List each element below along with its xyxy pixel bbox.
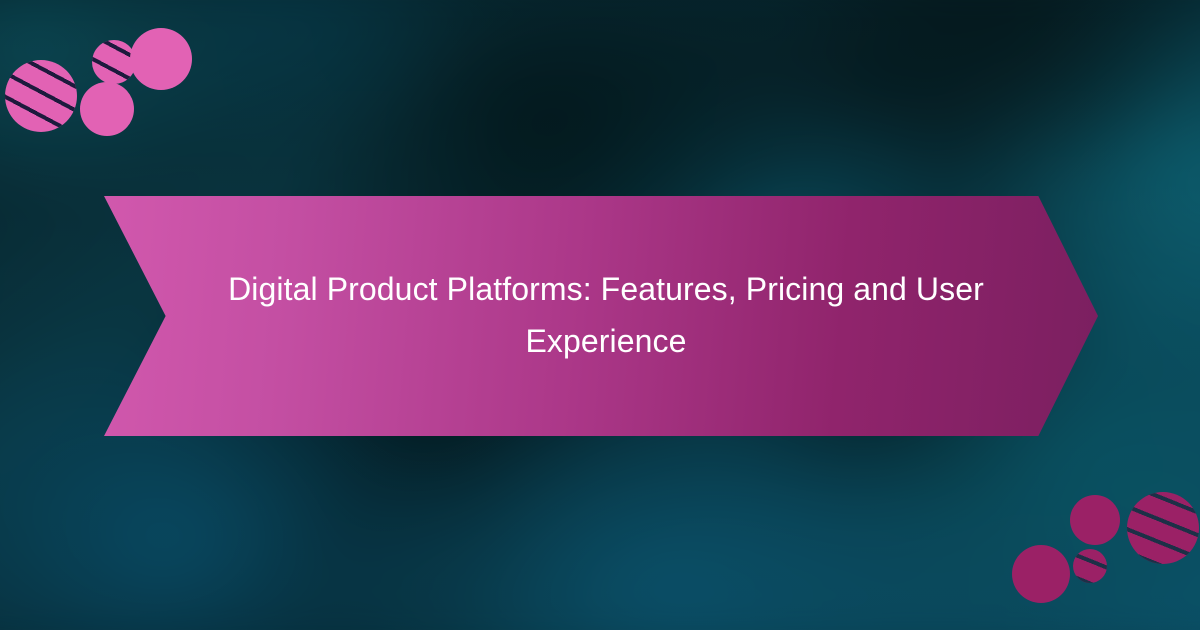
title-banner: Digital Product Platforms: Features, Pri… [104, 196, 1098, 436]
circle-bottom-right-big [1127, 492, 1199, 564]
page-title: Digital Product Platforms: Features, Pri… [226, 264, 986, 368]
circle-top-left-medium [80, 82, 134, 136]
circle-stripe-pattern [1073, 549, 1107, 583]
circle-bottom-right-small [1073, 549, 1107, 583]
circle-bottom-right-top [1070, 495, 1120, 545]
social-card-canvas: Digital Product Platforms: Features, Pri… [0, 0, 1200, 630]
circle-top-left-striped [5, 60, 77, 132]
circle-top-left-large [130, 28, 192, 90]
circle-stripe-pattern [5, 60, 77, 132]
circle-bottom-right-left [1012, 545, 1070, 603]
circle-stripe-pattern [1127, 492, 1199, 564]
